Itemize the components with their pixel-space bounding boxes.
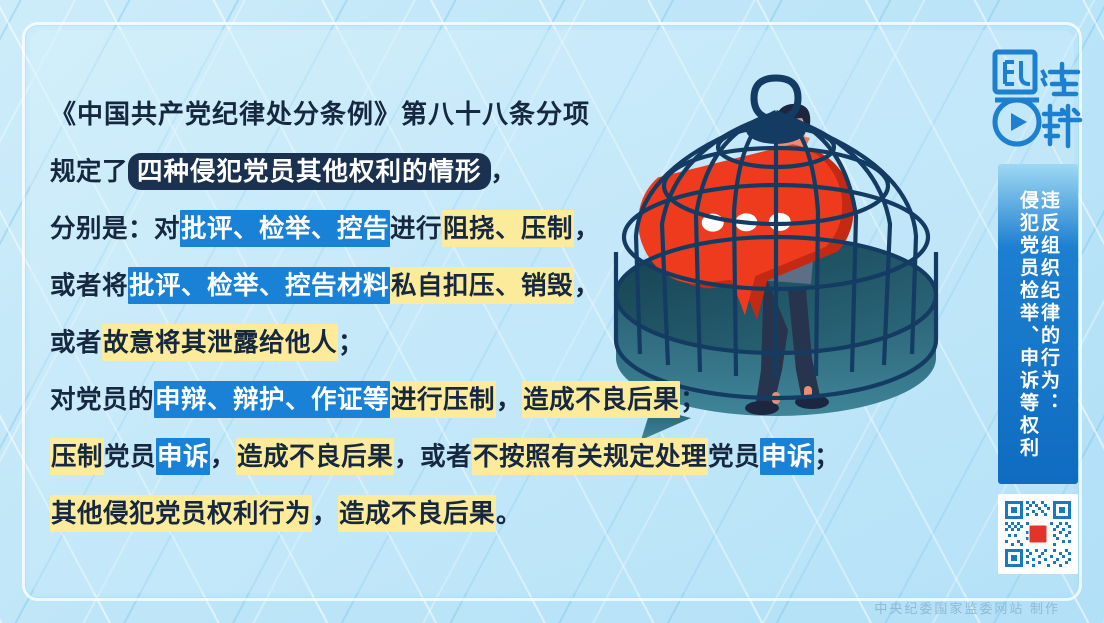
- text-segment-plain: ，或者: [394, 442, 472, 471]
- text-segment-plain: ，: [312, 499, 338, 528]
- text-segment-plain: 党员: [708, 442, 760, 471]
- text-segment-blue: 申辩、辩护、作证等: [154, 381, 390, 418]
- text-segment-pill: 四种侵犯党员其他权利的情形: [128, 153, 491, 190]
- text-segment-plain: 或者将: [50, 271, 128, 300]
- jifa-kepu-logo[interactable]: [992, 46, 1084, 158]
- text-segment-yellow: 压制: [50, 438, 104, 475]
- text-segment-plain: 进行: [390, 214, 442, 243]
- banner-column-left: 侵犯党员检举、申诉等权利: [1018, 190, 1037, 484]
- text-segment-yellow: 造成不良后果: [338, 495, 496, 532]
- text-segment-yellow: 其他侵犯党员权利行为: [50, 495, 312, 532]
- text-segment-yellow: 进行压制: [390, 381, 496, 418]
- text-segment-yellow: 阻挠、压制: [442, 210, 574, 247]
- text-segment-plain: 或者: [50, 328, 102, 357]
- text-segment-blue: 批评、检举、控告: [180, 210, 390, 247]
- text-segment-plain: 。: [496, 499, 522, 528]
- body-text-block: 《中国共产党纪律处分条例》第八十八条分项 规定了四种侵犯党员其他权利的情形， 分…: [50, 86, 870, 542]
- text-segment-plain: ；: [680, 385, 706, 414]
- text-segment-yellow: 私自扣压、销毁: [390, 267, 574, 304]
- text-segment-blue: 批评、检举、控告材料: [128, 267, 390, 304]
- text-segment-plain: ；: [814, 442, 840, 471]
- vertical-banner: 违反组织纪律的行为： 侵犯党员检举、申诉等权利: [998, 164, 1078, 484]
- text-segment-plain: 对党员的: [50, 385, 154, 414]
- text-line-2: 分别是：对批评、检举、控告进行阻挠、压制，: [50, 200, 870, 257]
- text-segment-yellow: 不按照有关规定处理: [472, 438, 708, 475]
- text-line-6: 压制党员申诉，造成不良后果，或者不按照有关规定处理党员申诉；: [50, 428, 870, 485]
- text-segment-plain: ，: [491, 157, 517, 186]
- text-segment-plain: 规定了: [50, 157, 128, 186]
- text-line-7: 其他侵犯党员权利行为，造成不良后果。: [50, 485, 870, 542]
- text-line-1: 规定了四种侵犯党员其他权利的情形，: [50, 143, 870, 200]
- banner-column-right: 违反组织纪律的行为：: [1039, 190, 1058, 484]
- text-segment-plain: 《中国共产党纪律处分条例》第八十八条分项: [50, 100, 590, 129]
- text-segment-plain: ，: [574, 271, 600, 300]
- text-line-3: 或者将批评、检举、控告材料私自扣压、销毁，: [50, 257, 870, 314]
- qr-center-logo: [1029, 525, 1048, 544]
- text-line-5: 对党员的申辩、辩护、作证等进行压制，造成不良后果；: [50, 371, 870, 428]
- text-segment-yellow: 造成不良后果: [522, 381, 680, 418]
- page-title: 《中国共产党纪律处分条例》第八十八条分项: [50, 86, 870, 143]
- text-segment-plain: ，: [496, 385, 522, 414]
- text-segment-plain: ，: [210, 442, 236, 471]
- text-segment-plain: ；: [338, 328, 364, 357]
- text-segment-blue: 申诉: [760, 438, 814, 475]
- logo-svg: [992, 46, 1084, 158]
- qr-code[interactable]: [998, 494, 1078, 574]
- text-segment-yellow: 造成不良后果: [236, 438, 394, 475]
- text-segment-plain: 分别是：对: [50, 214, 180, 243]
- text-line-4: 或者故意将其泄露给他人；: [50, 314, 870, 371]
- text-segment-blue: 申诉: [156, 438, 210, 475]
- poster-canvas: 《中国共产党纪律处分条例》第八十八条分项 规定了四种侵犯党员其他权利的情形， 分…: [0, 0, 1104, 623]
- footer-credit: 中央纪委国家监委网站 制作: [874, 598, 1060, 617]
- right-rail: 违反组织纪律的行为： 侵犯党员检举、申诉等权利: [992, 46, 1084, 574]
- text-segment-plain: ，: [574, 214, 600, 243]
- text-segment-yellow: 故意将其泄露给他人: [102, 324, 338, 361]
- text-segment-plain: 党员: [104, 442, 156, 471]
